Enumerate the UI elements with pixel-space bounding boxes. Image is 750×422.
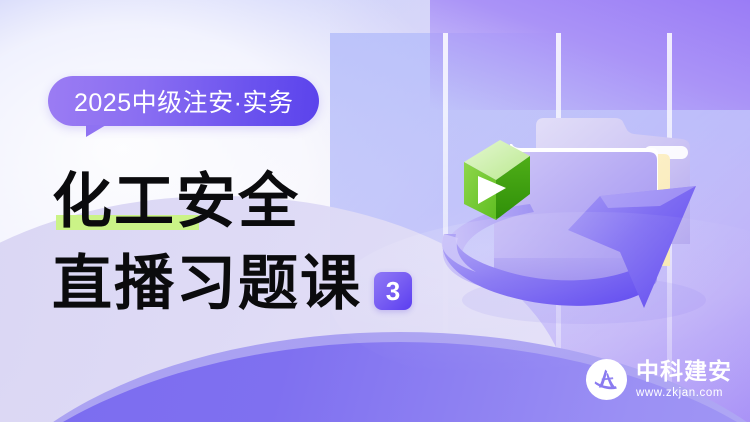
zhongke-jianan-circle-icon (586, 359, 627, 400)
brand-logo-text: 中科建安 www.zkjan.com (636, 360, 732, 400)
brand-website: www.zkjan.com (636, 388, 732, 400)
badge-pill: 2025中级注安·实务 (48, 76, 319, 126)
headline-line-2: 直播习题课 (52, 250, 362, 318)
brand-logo: 中科建安 www.zkjan.com (586, 359, 732, 400)
headline-line-1-row: 化工安全 (52, 160, 472, 236)
brand-name: 中科建安 (636, 360, 732, 383)
course-category-badge: 2025中级注安·实务 (48, 76, 319, 126)
episode-number-badge: 3 (374, 272, 412, 310)
headline-block: 化工安全 直播习题课 3 (52, 160, 472, 318)
course-poster: 2025中级注安·实务 化工安全 直播习题课 3 中科建安 www.zkjan.… (0, 0, 750, 422)
headline-line-2-row: 直播习题课 3 (52, 242, 472, 318)
badge-label: 2025中级注安·实务 (74, 83, 293, 119)
badge-tail-icon (86, 125, 106, 137)
headline-line-1: 化工安全 (52, 168, 300, 236)
